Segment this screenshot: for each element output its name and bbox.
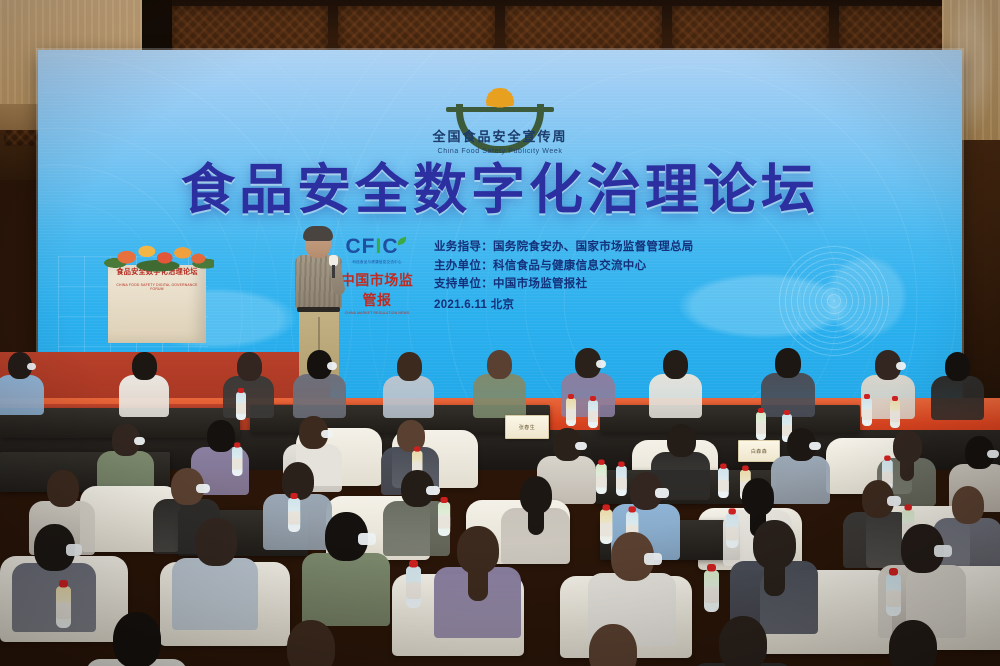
audience-member <box>96 424 155 495</box>
face-mask-icon <box>896 362 907 370</box>
audience-head <box>287 620 336 666</box>
audience-head <box>667 424 696 457</box>
face-mask-icon <box>887 496 900 506</box>
logo-english-text: China Food Safety Publicity Week <box>438 148 563 155</box>
credits-text-block: 业务指导：国务院食安办、国家市场监督管理总局 主办单位：科信食品与健康信息交流中… <box>434 234 694 315</box>
audience-member <box>728 520 820 631</box>
audience-torso <box>119 375 169 416</box>
audience-head <box>775 348 801 378</box>
audience-head <box>889 620 938 666</box>
audience-head <box>113 612 162 666</box>
audience-member <box>930 352 985 418</box>
face-mask-icon <box>27 363 37 370</box>
podium-sign-subtitle: CHINA FOOD SAFETY DIGITAL GOVERNANCE FOR… <box>110 283 204 291</box>
audience-member <box>258 620 362 666</box>
audience-member <box>760 348 816 415</box>
credit-guidance: 业务指导：国务院食安办、国家市场监督管理总局 <box>434 238 694 257</box>
audience-head <box>132 352 156 380</box>
logo-rays-icon <box>448 66 552 106</box>
audience-ponytail <box>900 453 914 481</box>
face-mask-icon <box>575 442 587 450</box>
audience-member <box>300 512 392 623</box>
audience-member <box>560 624 664 666</box>
audience-torso <box>649 374 702 417</box>
audience-torso <box>12 563 96 632</box>
audience-ponytail <box>528 503 544 535</box>
audience-torso <box>293 374 346 417</box>
face-mask-icon <box>809 442 821 450</box>
logo-chinese-text: 全国食品安全宣传周 <box>432 126 567 145</box>
water-bottle <box>704 570 719 612</box>
face-mask-icon <box>644 553 661 566</box>
credit-organizer: 主办单位：科信食品与健康信息交流中心 <box>434 257 694 276</box>
audience-head <box>663 350 688 379</box>
audience-member <box>170 518 260 627</box>
face-mask-icon <box>934 545 951 558</box>
credit-date-location: 2021.6.11 北京 <box>434 296 694 315</box>
audience-member <box>472 350 527 416</box>
face-mask-icon <box>321 430 333 438</box>
audience-head <box>487 350 512 379</box>
face-mask-icon <box>66 544 83 556</box>
water-bottle <box>406 566 421 608</box>
flower-arrangement <box>102 237 214 273</box>
audience-torso <box>0 375 44 415</box>
face-mask-icon <box>327 362 337 370</box>
audience-head <box>237 352 262 381</box>
cfic-c: C <box>382 235 398 258</box>
credit-supporter: 支持单位：中国市场监管报社 <box>434 275 694 294</box>
audience-head <box>207 420 235 452</box>
face-mask-icon <box>358 533 375 546</box>
audience-member <box>382 352 435 416</box>
audience-member <box>292 350 347 416</box>
water-bottle <box>236 392 246 420</box>
audience-head <box>397 352 422 381</box>
water-bottle <box>232 447 243 476</box>
water-bottle <box>588 400 598 428</box>
water-bottle <box>862 398 872 426</box>
face-mask-icon <box>196 484 209 494</box>
audience-ponytail <box>468 560 488 601</box>
water-bottle <box>288 498 300 532</box>
water-bottle <box>890 400 900 428</box>
water-bottle <box>596 464 607 494</box>
face-mask-icon <box>596 360 607 368</box>
microphone-stem <box>332 265 335 278</box>
face-mask-icon <box>426 486 439 496</box>
audience-head <box>282 462 315 500</box>
forum-main-title: 食品安全数字化治理论坛 <box>38 163 962 217</box>
audience-torso <box>223 376 275 418</box>
audience-member <box>648 350 703 416</box>
water-bottle <box>56 586 71 628</box>
audience-torso <box>931 376 984 419</box>
audience-torso <box>302 553 390 626</box>
audience-ponytail <box>764 555 785 596</box>
audience-member <box>432 526 522 635</box>
audience-member <box>690 616 794 666</box>
water-bottle <box>756 412 766 440</box>
audience-torso <box>473 374 526 417</box>
audience-head <box>47 470 79 507</box>
audience-member <box>222 352 275 416</box>
face-mask-icon <box>134 437 145 445</box>
audience-member <box>84 612 188 666</box>
credits-row: CFIC 科信食品与健康信息交流中心 中国市场监管报 CHINA MARKET … <box>338 234 962 315</box>
podium: 食品安全数字化治理论坛 CHINA FOOD SAFETY DIGITAL GO… <box>104 243 210 343</box>
speaker-belt <box>297 307 340 312</box>
audience-head <box>397 420 425 452</box>
food-safety-week-logo: 全国食品安全宣传周 China Food Safety Publicity We… <box>38 66 962 155</box>
water-bottle <box>566 398 576 426</box>
water-bottle <box>886 574 901 616</box>
audience-head <box>589 624 638 666</box>
audience-head <box>195 518 237 566</box>
audience-head <box>945 352 970 381</box>
audience-head <box>719 616 768 666</box>
audience-torso <box>383 376 435 418</box>
conference-photo-scene: 全国食品安全宣传周 China Food Safety Publicity We… <box>0 0 1000 666</box>
face-mask-icon <box>987 450 999 458</box>
audience-member <box>0 352 45 414</box>
audience-member <box>118 352 170 415</box>
audience-head <box>952 486 985 524</box>
audience-member <box>860 620 964 666</box>
face-mask-icon <box>655 488 668 498</box>
speaker-hair <box>303 226 333 241</box>
